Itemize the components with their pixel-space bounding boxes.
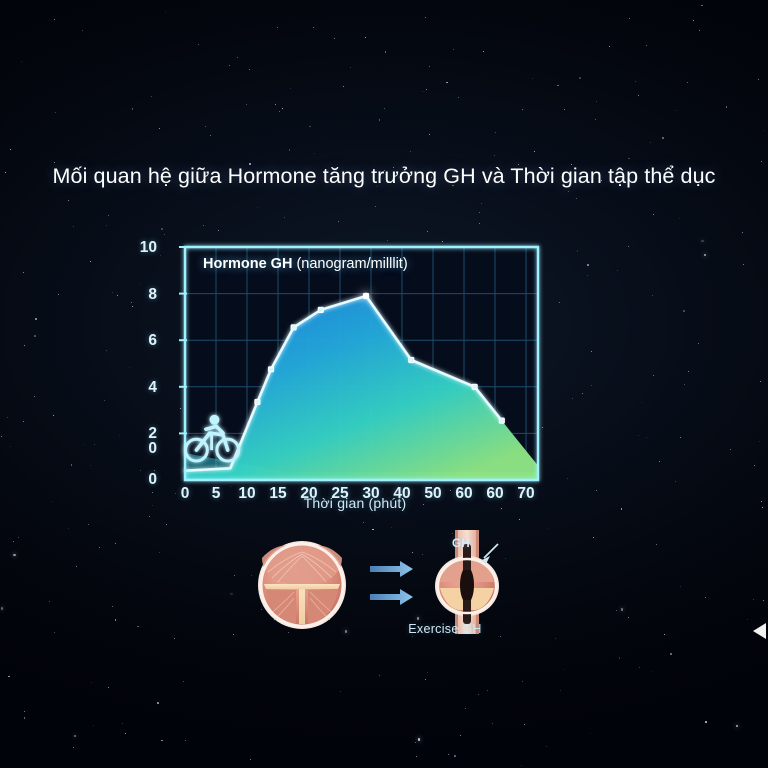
y-axis-origin: 0 xyxy=(133,471,157,489)
page-title: Mối quan hệ giữa Hormone tăng trưởng GH … xyxy=(0,164,768,189)
data-point-marker xyxy=(499,418,504,423)
transition-arrows xyxy=(370,561,413,605)
series-unit-text: (nanogram/milllit) xyxy=(296,256,407,272)
data-point-marker xyxy=(318,307,323,312)
y-tick-8: 8 xyxy=(133,286,157,304)
y-tick-6: 6 xyxy=(133,332,157,350)
data-point-marker xyxy=(255,399,260,404)
data-point-marker xyxy=(268,367,273,372)
y-tick-10: 10 xyxy=(133,239,157,257)
peak-highlight xyxy=(363,293,369,299)
edge-arrow-icon[interactable] xyxy=(752,621,768,641)
data-point-marker xyxy=(409,357,414,362)
gh-chart: 10 8 6 4 2 0 0 0 5 10 15 20 25 30 40 50 … xyxy=(155,240,555,525)
series-label-text: Hormone GH xyxy=(203,256,292,272)
muscle-cross-section-icon xyxy=(258,541,346,629)
diagram-caption: Exercise GH xyxy=(380,622,510,636)
series-label: Hormone GH (nanogram/milllit) xyxy=(203,256,408,272)
data-point-marker xyxy=(291,325,296,330)
chart-canvas xyxy=(155,240,555,525)
y-tick-4: 4 xyxy=(133,379,157,397)
screenshot-root: Mối quan hệ giữa Hormone tăng trưởng GH … xyxy=(0,0,768,768)
y-tick-0: 0 xyxy=(133,440,157,458)
data-point-marker xyxy=(472,384,477,389)
gh-callout-label: GH xyxy=(452,538,470,550)
x-axis-title: Thời gian (phút) xyxy=(155,495,555,511)
